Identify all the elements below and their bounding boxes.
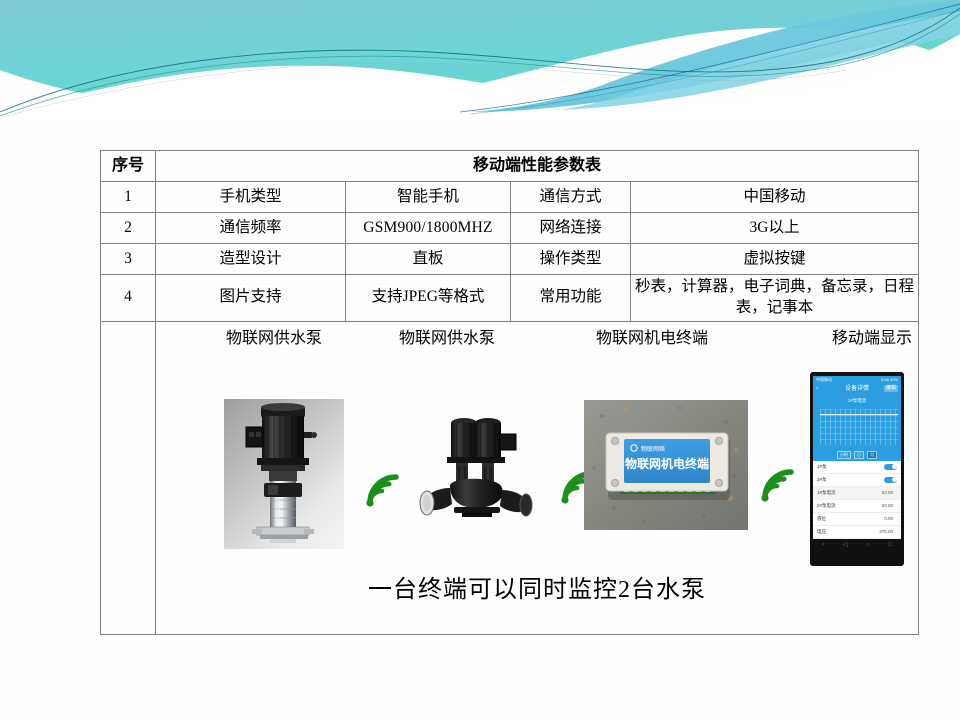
row-value-2: 3G以上 [631, 213, 919, 244]
phone-menu-button[interactable]: 编辑 [884, 385, 898, 392]
row-label: 电压 [817, 529, 826, 535]
illustration-row-index-cell [101, 321, 156, 634]
row-value-2: 虚拟按键 [631, 244, 919, 275]
mobile-phone-display-photo: 中国移动 8:48 40% ‹ 设备详情 编辑 1#泵电流 [810, 372, 904, 566]
vertical-multistage-pump-photo [224, 399, 344, 549]
pump-2-toggle-switch[interactable] [884, 477, 897, 483]
row-key-1: 通信频率 [156, 213, 346, 244]
row-key-1: 手机类型 [156, 182, 346, 213]
recents-nav-icon[interactable]: ◁ [843, 541, 848, 549]
table-row: 3 造型设计 直板 操作类型 虚拟按键 [101, 244, 919, 275]
list-item: 液位 0.00 [813, 513, 901, 526]
phone-screen: 中国移动 8:48 40% ‹ 设备详情 编辑 1#泵电流 [813, 376, 901, 552]
row-index: 4 [101, 275, 156, 322]
terminal-device-drawing: 物联网络 物联网机电终端 [584, 400, 748, 530]
row-index: 2 [101, 213, 156, 244]
table-row: 2 通信频率 GSM900/1800MHZ 网络连接 3G以上 [101, 213, 919, 244]
row-label: 2#泵电流 [817, 503, 836, 509]
list-item: 电压 375.00 [813, 526, 901, 539]
chart-range-buttons[interactable]: 小时 日 月 [813, 451, 901, 458]
row-value-1: 支持JPEG等格式 [346, 275, 511, 322]
device-label-terminal: 物联网机电终端 [596, 328, 708, 350]
inline-centrifugal-pump-photo [414, 404, 544, 526]
chart-title: 1#泵电流 [813, 395, 901, 404]
wifi-signal-icon [361, 470, 405, 515]
row-label: 1#泵电流 [817, 490, 836, 496]
phone-toggle-row[interactable]: 1#泵 [813, 461, 901, 474]
device-label-pump-2: 物联网供水泵 [399, 328, 495, 350]
table-row: 4 图片支持 支持JPEG等格式 常用功能 秒表，计算器，电子词典，备忘录，日程… [101, 275, 919, 322]
banner-waves-graphic [0, 0, 960, 118]
illustration-cell: 物联网供水泵 物联网供水泵 物联网机电终端 移动端显示 [156, 321, 919, 634]
table-header-row: 序号 移动端性能参数表 [101, 151, 919, 182]
square-nav-icon[interactable]: □ [888, 541, 892, 549]
header-no-label: 序号 [101, 151, 156, 182]
device-label-pump-1: 物联网供水泵 [226, 328, 322, 350]
row-value-2: 中国移动 [631, 182, 919, 213]
list-item: 1#泵电流 63.00 [813, 487, 901, 500]
table-row: 1 手机类型 智能手机 通信方式 中国移动 [101, 182, 919, 213]
chart-series-line [820, 414, 898, 416]
chart-range-day[interactable]: 日 [854, 451, 864, 458]
toggle-label: 2#泵 [817, 477, 827, 483]
decorative-header-banner [0, 0, 960, 118]
row-value: 0.00 [884, 516, 893, 522]
row-key-2: 通信方式 [511, 182, 631, 213]
inline-pump-drawing [414, 404, 544, 526]
iot-mechatronic-terminal-photo: 物联网络 物联网机电终端 [584, 400, 748, 530]
row-value-2: 秒表，计算器，电子词典，备忘录，日程表，记事本 [631, 275, 919, 322]
illustration-caption: 一台终端可以同时监控2台水泵 [156, 574, 918, 606]
phone-nav-title: 设备详情 [845, 385, 869, 393]
row-label: 液位 [817, 516, 826, 522]
phone-toggle-row[interactable]: 2#泵 [813, 474, 901, 487]
row-value: 375.00 [879, 529, 893, 535]
wifi-signal-icon [756, 465, 800, 510]
status-carrier: 中国移动 [816, 377, 832, 382]
row-value-1: 直板 [346, 244, 511, 275]
home-nav-icon[interactable]: ○ [866, 541, 870, 549]
vertical-pump-drawing [224, 399, 344, 549]
phone-nav-bar: ‹ 设备详情 编辑 [813, 383, 901, 395]
device-label-mobile: 移动端显示 [832, 328, 912, 350]
row-key-2: 网络连接 [511, 213, 631, 244]
pump-1-toggle-switch[interactable] [884, 464, 897, 470]
row-index: 1 [101, 182, 156, 213]
phone-current-chart: 1#泵电流 小时 日 月 [813, 395, 901, 461]
status-indicators: 8:48 40% [881, 377, 898, 382]
table-title: 移动端性能参数表 [156, 151, 919, 182]
row-key-1: 图片支持 [156, 275, 346, 322]
row-key-2: 操作类型 [511, 244, 631, 275]
phone-system-navbar[interactable]: ‹ ◁ ○ □ [813, 539, 901, 552]
row-key-1: 造型设计 [156, 244, 346, 275]
row-index: 3 [101, 244, 156, 275]
back-nav-icon[interactable]: ‹ [822, 541, 824, 549]
chevron-left-icon[interactable]: ‹ [816, 384, 818, 393]
row-value: 60.00 [882, 503, 893, 509]
phone-status-bar: 中国移动 8:48 40% [813, 376, 901, 383]
row-value-1: 智能手机 [346, 182, 511, 213]
chart-range-month[interactable]: 月 [867, 451, 877, 458]
terminal-brand-text: 物联网络 [641, 445, 665, 453]
row-key-2: 常用功能 [511, 275, 631, 322]
chart-range-hour[interactable]: 小时 [837, 451, 851, 458]
row-value: 63.00 [882, 490, 893, 496]
terminal-label-text: 物联网机电终端 [625, 456, 709, 471]
mobile-parameter-table: 序号 移动端性能参数表 1 手机类型 智能手机 通信方式 中国移动 2 通信频率… [100, 150, 919, 635]
list-item: 2#泵电流 60.00 [813, 500, 901, 513]
row-value-1: GSM900/1800MHZ [346, 213, 511, 244]
illustration-row: 物联网供水泵 物联网供水泵 物联网机电终端 移动端显示 [101, 321, 919, 634]
toggle-label: 1#泵 [817, 464, 827, 470]
